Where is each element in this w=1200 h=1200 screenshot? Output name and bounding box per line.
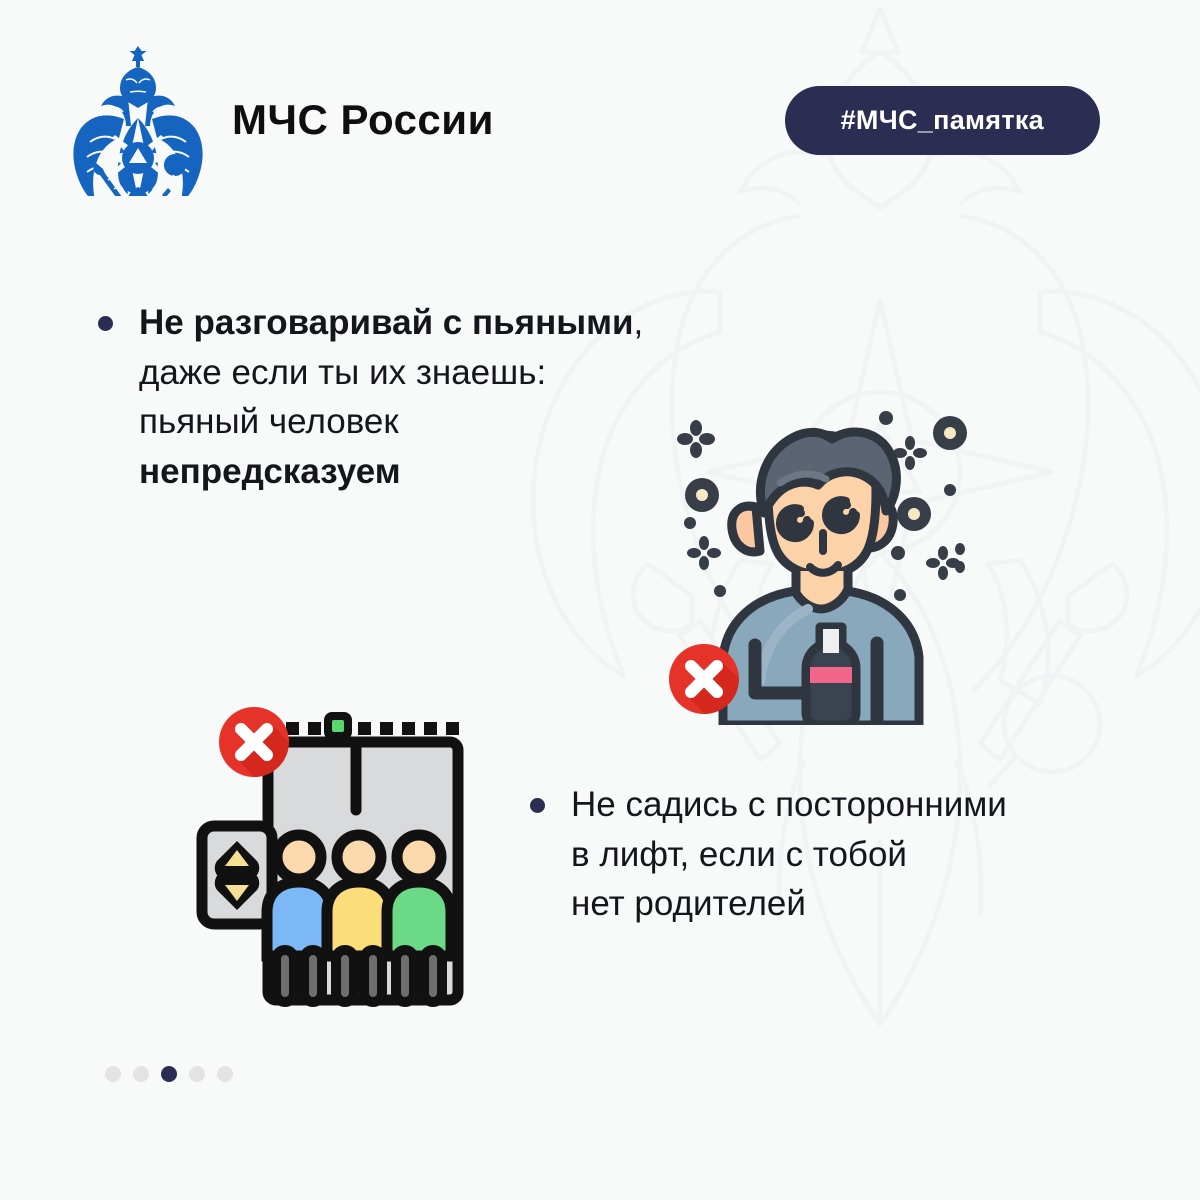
red-x-prohibition-badge-icon	[219, 707, 289, 777]
red-x-prohibition-badge-icon	[669, 644, 739, 714]
elevator-top-trim	[286, 722, 459, 735]
pagination-dot-1[interactable]	[105, 1066, 121, 1082]
elevator-with-strangers-illustration	[190, 700, 490, 1020]
tip-2-line-1: Не садись с посторонними	[571, 785, 1007, 824]
elevator-occupants	[267, 835, 451, 1002]
bullet-dot-icon	[530, 798, 545, 813]
tip-text: Не разговаривай с пьяными, даже если ты …	[139, 298, 643, 497]
brand-lockup: МЧС России	[72, 40, 494, 200]
tip-item-drunk-people: Не разговаривай с пьяными, даже если ты …	[98, 298, 658, 497]
tip-1-comma: ,	[634, 303, 644, 342]
hashtag-badge[interactable]: #МЧС_памятка	[785, 86, 1100, 155]
tip-1-line-2: даже если ты их знаешь:	[139, 353, 546, 392]
tip-item-elevator: Не садись с посторонними в лифт, если с …	[530, 780, 1130, 929]
pagination-dot-5[interactable]	[217, 1066, 233, 1082]
tip-2-line-2: в лифт, если с тобой	[571, 835, 907, 874]
pagination-dot-2[interactable]	[133, 1066, 149, 1082]
tip-1-line-3: пьяный человек	[139, 402, 399, 441]
tip-1-line-1: Не разговаривай с пьяными	[139, 303, 634, 342]
pagination-dot-4[interactable]	[189, 1066, 205, 1082]
bullet-dot-icon	[98, 316, 113, 331]
drunk-person-illustration	[660, 395, 990, 725]
elevator-call-panel[interactable]	[202, 826, 272, 924]
brand-title: МЧС России	[232, 96, 494, 144]
pagination-dot-3-active[interactable]	[161, 1066, 177, 1082]
poster-header: МЧС России #МЧС_памятка	[72, 40, 1128, 200]
tip-1-line-4: непредсказуем	[139, 452, 401, 491]
carousel-pagination[interactable]	[105, 1066, 233, 1082]
poster-canvas: МЧС России #МЧС_памятка Не разговаривай …	[0, 0, 1200, 1200]
tip-2-line-3: нет родителей	[571, 884, 806, 923]
emercom-eagle-emblem-icon	[72, 44, 204, 196]
tip-text: Не садись с посторонними в лифт, если с …	[571, 780, 1007, 929]
floor-indicator-icon	[324, 712, 352, 740]
